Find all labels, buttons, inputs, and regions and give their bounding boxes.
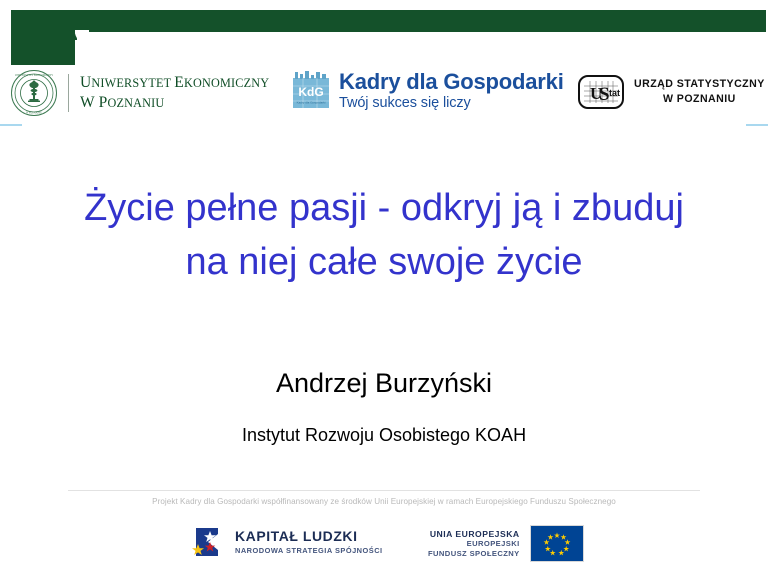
author-affiliation: Instytut Rozwoju Osobistego KOAH [34,425,734,446]
footer-divider [68,490,700,491]
svg-text:Kadry dla Gospodarki: Kadry dla Gospodarki [297,101,326,105]
kadry-subtitle: Twój sukces się liczy [339,96,564,112]
slide-title-line-2: na niej całe swoje życie [24,236,744,290]
logo-kapital-ludzki: KAPITAŁ LUDZKI NARODOWA STRATEGIA SPÓJNO… [188,522,383,562]
university-line2-cap: W P [80,94,107,111]
logo-uniwersytet-ekonomiczny: UNIWERSYTET EKONOMICZNY W POZNANIU UNIWE… [10,69,269,117]
logo-divider [68,74,69,112]
kapital-ludzki-subtitle: NARODOWA STRATEGIA SPÓJNOŚCI [235,547,383,555]
slide-title-line-1: Życie pełne pasji - odkryj ją i zbuduj [24,182,744,236]
usstat-line2: W POZNANIU [634,92,765,107]
header-accent-corner-mask [75,30,89,42]
header-accent-bar [11,10,766,32]
logo-kadry-dla-gospodarki: KdG Kadry dla Gospodarki Kadry dla Gospo… [291,70,564,112]
logo-urzad-statystyczny: U S tat URZĄD STATYSTYCZNY W POZNANIU [578,75,765,109]
header-accent-block [11,30,75,65]
university-line2-body: OZNANIU [107,96,164,110]
slide-title: Życie pełne pasji - odkryj ją i zbuduj n… [24,182,744,290]
header-rule-left [0,124,22,126]
svg-text:KdG: KdG [298,85,323,99]
university-line1-cap2: E [174,74,184,91]
unia-europejska-line3: FUNDUSZ SPOŁECZNY [428,549,520,558]
kadry-title: Kadry dla Gospodarki [339,70,564,94]
eu-flag-icon [530,525,584,562]
svg-text:S: S [599,84,610,105]
unia-europejska-line1: UNIA EUROPEJSKA [428,529,520,540]
usstat-line1: URZĄD STATYSTYCZNY [634,77,765,92]
footer-funding-note: Projekt Kadry dla Gospodarki współfinans… [0,497,768,506]
university-line1-body: NIWERSYTET [91,76,174,90]
unia-europejska-wordmark: UNIA EUROPEJSKA EUROPEJSKI FUNDUSZ SPOŁE… [428,529,520,559]
svg-text:W POZNANIU: W POZNANIU [26,112,42,115]
footer-logo-row: KAPITAŁ LUDZKI NARODOWA STRATEGIA SPÓJNO… [0,518,768,570]
svg-text:tat: tat [609,88,620,98]
kapital-ludzki-wordmark: KAPITAŁ LUDZKI NARODOWA STRATEGIA SPÓJNO… [235,529,383,555]
university-line1-cap: U [80,74,91,91]
header-rule-right [746,124,768,126]
header-logo-row: UNIWERSYTET EKONOMICZNY W POZNANIU UNIWE… [0,66,768,122]
unia-europejska-line2: EUROPEJSKI [428,539,520,548]
university-wordmark: UNIWERSYTET EKONOMICZNY W POZNANIU [80,73,269,113]
kadry-wordmark: Kadry dla Gospodarki Twój sukces się lic… [339,70,564,112]
usstat-wordmark: URZĄD STATYSTYCZNY W POZNANIU [634,77,765,108]
kapital-ludzki-stars-icon [188,522,226,562]
logo-unia-europejska: UNIA EUROPEJSKA EUROPEJSKI FUNDUSZ SPOŁE… [428,525,584,562]
kadry-mark-icon: KdG Kadry dla Gospodarki [291,70,331,112]
presentation-slide: UNIWERSYTET EKONOMICZNY W POZNANIU UNIWE… [0,0,768,576]
svg-text:UNIWERSYTET EKONOMICZNY: UNIWERSYTET EKONOMICZNY [15,74,53,77]
kapital-ludzki-title: KAPITAŁ LUDZKI [235,529,383,545]
usstat-mark-icon: U S tat [578,75,624,109]
university-line1-body2: KONOMICZNY [184,76,269,90]
author-name: Andrzej Burzyński [34,368,734,399]
university-seal-icon: UNIWERSYTET EKONOMICZNY W POZNANIU [10,69,58,117]
